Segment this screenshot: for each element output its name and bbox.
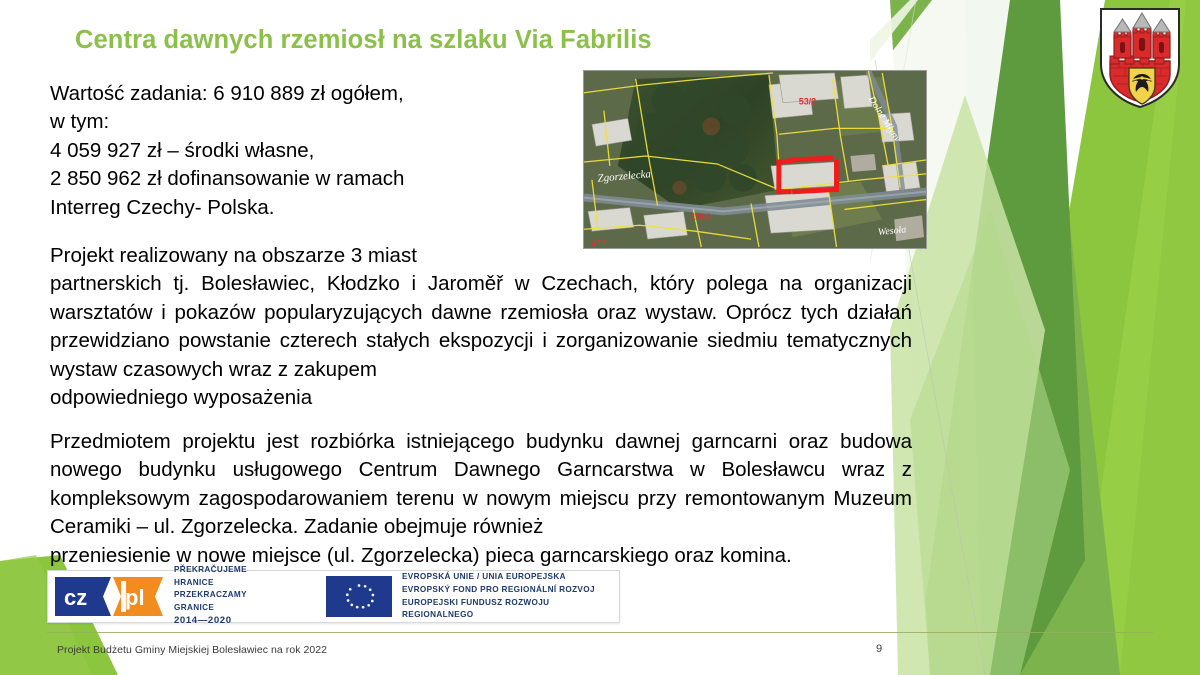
- project-value-text: Wartość zadania: 6 910 889 zł ogółem, w …: [50, 80, 550, 222]
- page-title: Centra dawnych rzemiosł na szlaku Via Fa…: [75, 26, 652, 55]
- aerial-map-image: Zgorzelecka Dolne Młyny Wesoła 53/2 115/…: [583, 70, 927, 249]
- paragraph-project-scope: Projekt realizowany na obszarze 3 miast …: [50, 242, 912, 412]
- page-number: 9: [876, 643, 882, 655]
- map-parcel-number-53-2: 53/2: [799, 97, 816, 107]
- paragraph-1-first-line: Projekt realizowany na obszarze 3 miast: [50, 242, 912, 270]
- paragraph-1-last-line: odpowiedniego wyposażenia: [50, 384, 912, 412]
- funding-logo-bar: cz pl PŘEKRAČUJEME HRANICE PRZEKRACZAMY …: [47, 570, 620, 623]
- eu-line-1: EVROPSKÁ UNIE / UNIA EUROPEJSKA: [402, 571, 619, 584]
- paragraph-1-body: partnerskich tj. Bolesławiec, Kłodzko i …: [50, 270, 912, 384]
- slide-canvas: Centra dawnych rzemiosł na szlaku Via Fa…: [0, 0, 1200, 675]
- map-parcel-number-115-2: 115/2: [691, 212, 711, 221]
- eu-flag-icon: [326, 576, 392, 617]
- eu-fund-text: EVROPSKÁ UNIE / UNIA EUROPEJSKA EVROPSKÝ…: [402, 571, 619, 622]
- interreg-line-cz: PŘEKRAČUJEME HRANICE: [174, 564, 286, 589]
- interreg-period: 2014—2020: [174, 614, 286, 629]
- paragraph-2-body: Przedmiotem projektu jest rozbiórka istn…: [50, 428, 912, 542]
- footer-divider: [47, 632, 1153, 633]
- paragraph-project-subject: Przedmiotem projektu jest rozbiórka istn…: [50, 428, 912, 570]
- cz-pl-blocks-icon: cz pl: [55, 577, 163, 616]
- interreg-slogan-text: PŘEKRAČUJEME HRANICE PRZEKRACZAMY GRANIC…: [174, 564, 286, 628]
- interreg-line-pl: PRZEKRACZAMY GRANICE: [174, 589, 286, 614]
- svg-text:cz: cz: [64, 585, 87, 610]
- svg-text:pl: pl: [125, 585, 145, 610]
- eu-line-2: EVROPSKÝ FOND PRO REGIONÁLNÍ ROZVOJ: [402, 584, 619, 597]
- coat-of-arms-icon: [1097, 6, 1183, 110]
- european-union-logo: EVROPSKÁ UNIE / UNIA EUROPEJSKA EVROPSKÝ…: [326, 571, 619, 622]
- footer-caption: Projekt Budżetu Gminy Miejskiej Bolesław…: [57, 644, 327, 656]
- interreg-cz-pl-logo: cz pl PŘEKRAČUJEME HRANICE PRZEKRACZAMY …: [55, 564, 286, 628]
- eu-line-3: EUROPEJSKI FUNDUSZ ROZWOJU REGIONALNEGO: [402, 597, 619, 622]
